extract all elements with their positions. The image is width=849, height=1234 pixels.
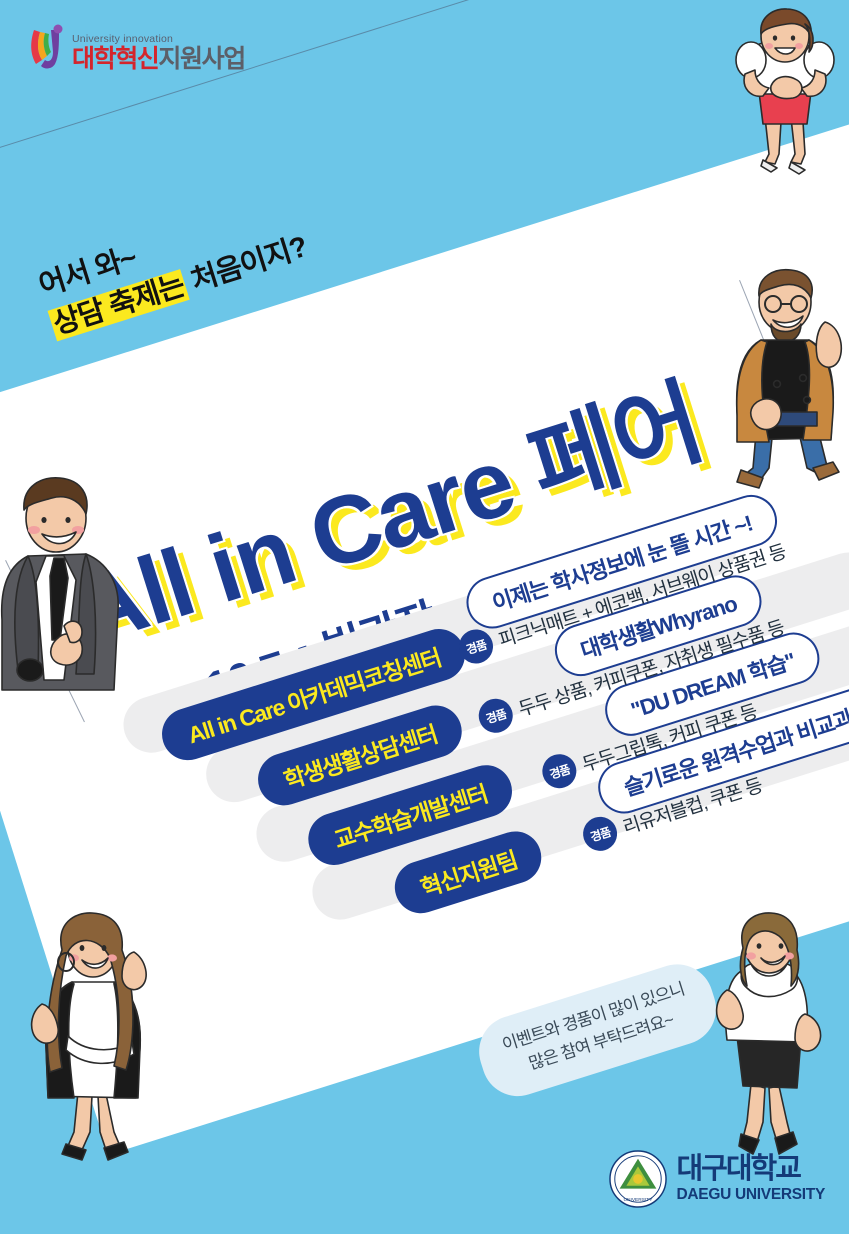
svg-text:UNIVERSITY: UNIVERSITY — [623, 1197, 653, 1203]
ui-mark-icon — [28, 24, 64, 72]
woman-bob-hair-white-top-black-skirt-thumbs-up — [705, 906, 835, 1168]
woman-white-blouse-red-skirt-thumbs-up — [725, 2, 845, 177]
ui-logo-korean: 대학혁신지원사업 — [72, 47, 245, 72]
decor-line-1 — [0, 0, 715, 151]
ui-logo-english: University innovation — [72, 34, 245, 45]
du-logo-english: DAEGU UNIVERSITY — [677, 1187, 826, 1203]
poster-canvas: University innovation 대학혁신지원사업 어서 와~ 상담 … — [0, 0, 849, 1234]
man-tan-blazer-glasses-thumbs-up — [721, 262, 849, 492]
man-gray-suit-thumbs-up — [0, 470, 134, 695]
woman-long-hair-white-dress-thumbs-up — [22, 906, 172, 1168]
university-innovation-logo: University innovation 대학혁신지원사업 — [28, 24, 245, 72]
daegu-university-emblem-icon: UNIVERSITY — [609, 1150, 667, 1208]
